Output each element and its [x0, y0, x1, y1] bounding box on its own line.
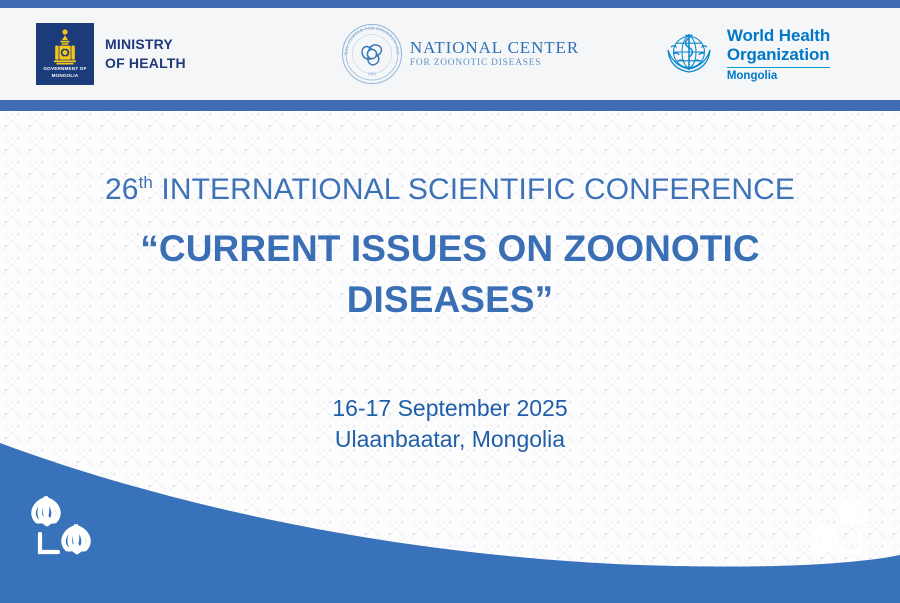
mongolian-knot-ornament-icon: [790, 490, 882, 568]
zoonotic-seal-icon: NATIONAL CENTER FOR ZOONOTIC DISEASES 19…: [341, 23, 403, 85]
page-title: “CURRENT ISSUES ON ZOONOTIC DISEASES”: [0, 223, 900, 325]
event-date: 16-17 September 2025: [0, 393, 900, 424]
conference-ordinal-suffix: th: [139, 173, 153, 192]
mongolia-government-emblem: GOVERNMENT OF MONGOLIA: [36, 23, 94, 85]
svg-text:1951: 1951: [368, 72, 376, 77]
logo-header: GOVERNMENT OF MONGOLIA MINISTRY OF HEALT…: [0, 8, 900, 100]
who-country: Mongolia: [727, 71, 830, 83]
ministry-name-line-2: OF HEALTH: [105, 54, 186, 73]
slide-body: 26th INTERNATIONAL SCIENTIFIC CONFERENCE…: [0, 111, 900, 455]
conference-subtitle-text: INTERNATIONAL SCIENTIFIC CONFERENCE: [153, 173, 795, 206]
conference-number: 26: [105, 173, 139, 206]
who-logo: World Health Organization Mongolia: [590, 8, 900, 100]
who-emblem-icon: [660, 25, 718, 83]
emblem-government-line: GOVERNMENT OF: [36, 66, 94, 72]
conference-subtitle: 26th INTERNATIONAL SCIENTIFIC CONFERENCE: [0, 173, 900, 207]
who-name: World Health Organization Mongolia: [727, 26, 830, 83]
emblem-country-line: MONGOLIA: [36, 73, 94, 79]
conference-title-slide: GOVERNMENT OF MONGOLIA MINISTRY OF HEALT…: [0, 0, 900, 603]
soyombo-emblem-icon: [52, 28, 78, 68]
footer-wave-blue: [0, 443, 900, 603]
ornament-right: [790, 490, 882, 573]
top-accent-band: [0, 0, 900, 8]
national-center-logo: NATIONAL CENTER FOR ZOONOTIC DISEASES 19…: [330, 8, 590, 100]
who-divider: [727, 67, 830, 69]
national-center-name-line-2: FOR ZOONOTIC DISEASES: [410, 59, 579, 69]
header-separator-band: [0, 100, 900, 111]
ministry-of-health-name: MINISTRY OF HEALTH: [105, 35, 186, 73]
footer-wave: [0, 443, 900, 603]
who-name-line-2: Organization: [727, 45, 830, 64]
ministry-of-health-logo: GOVERNMENT OF MONGOLIA MINISTRY OF HEALT…: [0, 8, 330, 100]
national-center-name: NATIONAL CENTER FOR ZOONOTIC DISEASES: [410, 39, 579, 69]
ministry-name-line-1: MINISTRY: [105, 35, 186, 54]
national-center-name-line-1: NATIONAL CENTER: [410, 39, 579, 57]
who-name-line-1: World Health: [727, 26, 830, 45]
mongolian-knot-ornament-icon: [18, 490, 110, 568]
ornament-left: [18, 490, 110, 573]
